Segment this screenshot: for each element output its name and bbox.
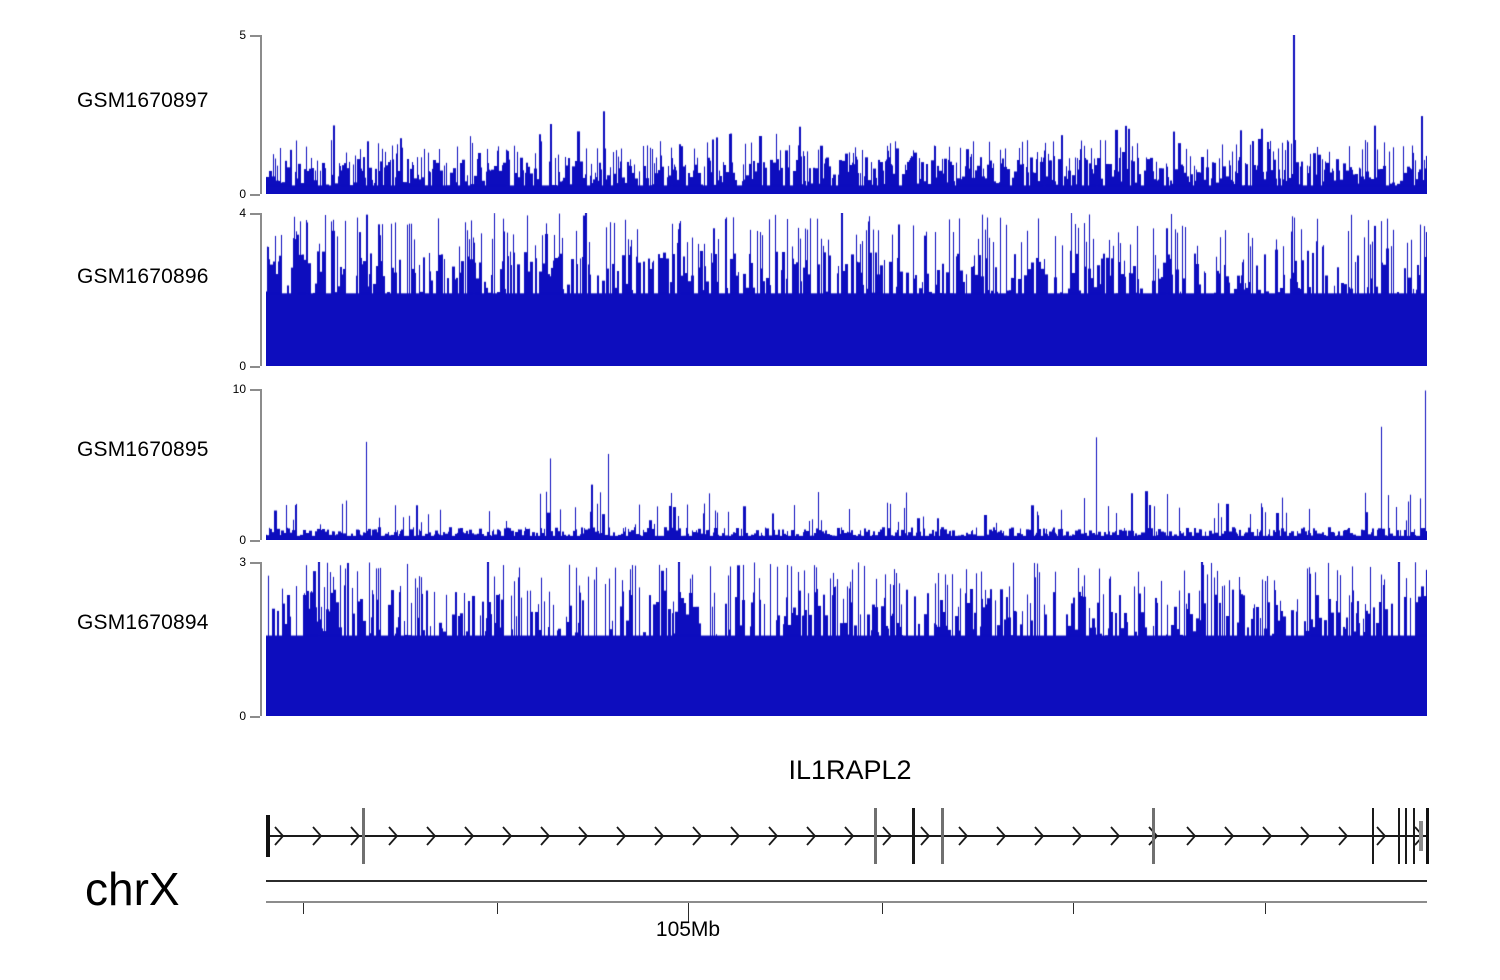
strand-arrow-icon bbox=[958, 824, 969, 848]
strand-arrow-icon bbox=[578, 824, 589, 848]
ideogram-top-line bbox=[266, 880, 1427, 882]
strand-arrow-icon bbox=[312, 824, 323, 848]
gene-exon[interactable] bbox=[941, 808, 944, 864]
strand-arrow-icon bbox=[1224, 824, 1235, 848]
gene-exon[interactable] bbox=[266, 815, 270, 857]
y-axis-line bbox=[260, 562, 262, 716]
gene-exon[interactable] bbox=[1419, 821, 1423, 851]
strand-arrow-icon bbox=[1034, 824, 1045, 848]
ruler-tick-minor bbox=[882, 903, 883, 914]
strand-arrow-icon bbox=[996, 824, 1007, 848]
strand-arrow-icon bbox=[1186, 824, 1197, 848]
strand-arrow-icon bbox=[274, 824, 285, 848]
ruler-tick-minor bbox=[1265, 903, 1266, 914]
strand-arrow-icon bbox=[692, 824, 703, 848]
strand-arrow-icon bbox=[882, 824, 893, 848]
strand-arrow-icon bbox=[1262, 824, 1273, 848]
strand-arrow-icon bbox=[654, 824, 665, 848]
strand-arrow-icon bbox=[1338, 824, 1349, 848]
strand-arrow-icon bbox=[502, 824, 513, 848]
strand-arrow-icon bbox=[540, 824, 551, 848]
gene-exon[interactable] bbox=[1413, 808, 1415, 864]
axis-min-label: 0 bbox=[210, 709, 246, 723]
chromosome-label: chrX bbox=[85, 862, 180, 916]
ruler-position-label: 105Mb bbox=[656, 918, 720, 942]
y-axis-tick-max bbox=[250, 562, 260, 564]
gene-exon[interactable] bbox=[1405, 808, 1407, 864]
track-label: GSM1670894 bbox=[77, 611, 209, 635]
gene-annotation-track[interactable]: IL1RAPL2 bbox=[0, 755, 1500, 875]
y-axis-tick-min bbox=[250, 716, 260, 718]
strand-arrow-icon bbox=[806, 824, 817, 848]
gene-exon[interactable] bbox=[1152, 808, 1155, 864]
signal-plot[interactable] bbox=[266, 562, 1427, 716]
strand-arrow-icon bbox=[388, 824, 399, 848]
ruler-tick-minor bbox=[1073, 903, 1074, 914]
ideogram-bottom-line bbox=[266, 901, 1427, 903]
strand-arrow-icon bbox=[844, 824, 855, 848]
strand-arrow-icon bbox=[350, 824, 361, 848]
gene-exon[interactable] bbox=[874, 808, 877, 864]
strand-arrow-icon bbox=[1376, 824, 1387, 848]
ruler-tick-minor bbox=[497, 903, 498, 914]
strand-arrow-icon bbox=[1300, 824, 1311, 848]
strand-arrow-icon bbox=[920, 824, 931, 848]
gene-exon[interactable] bbox=[1398, 808, 1400, 864]
strand-arrow-icon bbox=[426, 824, 437, 848]
gene-exon[interactable] bbox=[1426, 808, 1429, 864]
gene-name-label: IL1RAPL2 bbox=[788, 755, 911, 786]
strand-arrow-icon bbox=[1110, 824, 1121, 848]
strand-arrow-icon bbox=[616, 824, 627, 848]
ruler-tick-minor bbox=[303, 903, 304, 914]
strand-arrow-icon bbox=[768, 824, 779, 848]
gene-exon[interactable] bbox=[912, 808, 915, 864]
genome-browser: GSM1670897 5 0 GSM1670896 4 0 GSM1670895… bbox=[0, 0, 1500, 980]
strand-arrow-icon bbox=[730, 824, 741, 848]
strand-arrow-icon bbox=[464, 824, 475, 848]
strand-arrow-icon bbox=[1072, 824, 1083, 848]
gene-exon[interactable] bbox=[362, 808, 365, 864]
gene-exon[interactable] bbox=[1372, 808, 1374, 864]
axis-max-label: 3 bbox=[210, 555, 246, 569]
